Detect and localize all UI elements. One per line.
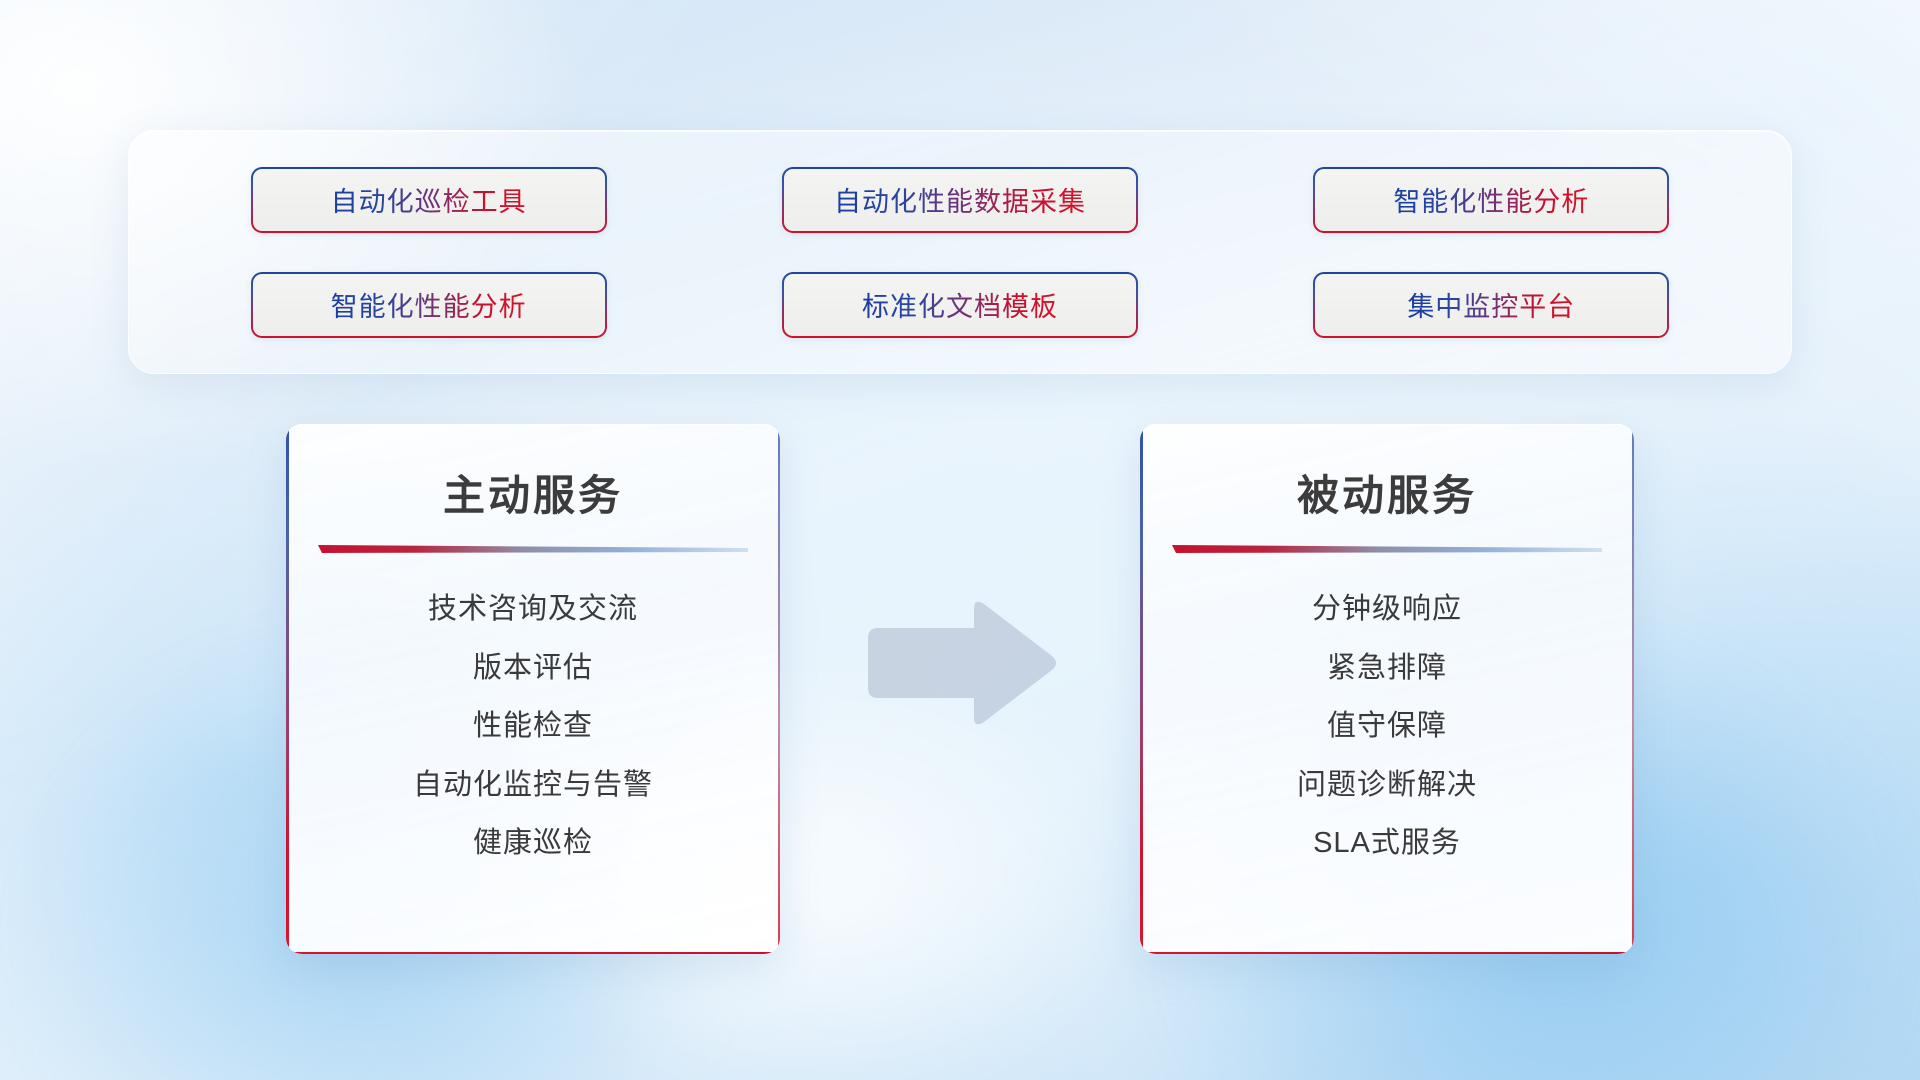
list-item: 值守保障	[1327, 706, 1447, 747]
slide-canvas: 自动化巡检工具 自动化性能数据采集 智能化性能分析 智能化性能分析 标准化文档模…	[0, 0, 1920, 1080]
capability-pill-4-inner: 智能化性能分析	[253, 274, 605, 336]
list-item: 版本评估	[473, 648, 593, 689]
service-card-active-bottom-accent	[286, 952, 780, 954]
service-card-active-title: 主动服务	[286, 462, 780, 523]
list-item: 紧急排障	[1327, 648, 1447, 689]
service-card-active-list: 技术咨询及交流 版本评估 性能检查 自动化监控与告警 健康巡检	[286, 589, 780, 864]
capability-pill-panel: 自动化巡检工具 自动化性能数据采集 智能化性能分析 智能化性能分析 标准化文档模…	[128, 130, 1792, 374]
capability-pill-3-inner: 智能化性能分析	[1315, 169, 1667, 231]
list-item: SLA式服务	[1313, 823, 1461, 864]
capability-pill-5[interactable]: 标准化文档模板	[782, 272, 1138, 338]
service-card-passive-title: 被动服务	[1140, 462, 1634, 523]
list-item: 技术咨询及交流	[428, 589, 638, 630]
capability-pill-1-inner: 自动化巡检工具	[253, 169, 605, 231]
capability-pill-4[interactable]: 智能化性能分析	[251, 272, 607, 338]
capability-pill-4-label: 智能化性能分析	[331, 285, 527, 324]
capability-pill-3-label: 智能化性能分析	[1393, 180, 1589, 219]
capability-pill-2[interactable]: 自动化性能数据采集	[782, 167, 1138, 233]
capability-pill-2-label: 自动化性能数据采集	[834, 180, 1086, 219]
service-card-passive-divider	[1172, 543, 1602, 555]
flow-arrow-right-icon	[862, 598, 1062, 728]
capability-pill-2-inner: 自动化性能数据采集	[784, 169, 1136, 231]
service-card-active-divider	[318, 543, 748, 555]
list-item: 自动化监控与告警	[413, 765, 653, 806]
list-item: 健康巡检	[473, 823, 593, 864]
capability-pill-5-label: 标准化文档模板	[862, 285, 1058, 324]
capability-pill-6-inner: 集中监控平台	[1315, 274, 1667, 336]
capability-pill-6[interactable]: 集中监控平台	[1313, 272, 1669, 338]
capability-pill-1[interactable]: 自动化巡检工具	[251, 167, 607, 233]
service-card-passive-bottom-accent	[1140, 952, 1634, 954]
capability-pill-3[interactable]: 智能化性能分析	[1313, 167, 1669, 233]
capability-pill-6-label: 集中监控平台	[1407, 285, 1575, 324]
capability-pill-1-label: 自动化巡检工具	[331, 180, 527, 219]
list-item: 问题诊断解决	[1297, 765, 1477, 806]
list-item: 性能检查	[473, 706, 593, 747]
service-card-active[interactable]: 主动服务 技术咨询及交流 版本评估 性能检查 自动化监控与告警	[286, 424, 780, 954]
service-card-passive-list: 分钟级响应 紧急排障 值守保障 问题诊断解决 SLA式服务	[1140, 589, 1634, 864]
list-item: 分钟级响应	[1312, 589, 1462, 630]
service-card-passive[interactable]: 被动服务 分钟级响应 紧急排障 值守保障 问题诊断解决	[1140, 424, 1634, 954]
capability-pill-5-inner: 标准化文档模板	[784, 274, 1136, 336]
